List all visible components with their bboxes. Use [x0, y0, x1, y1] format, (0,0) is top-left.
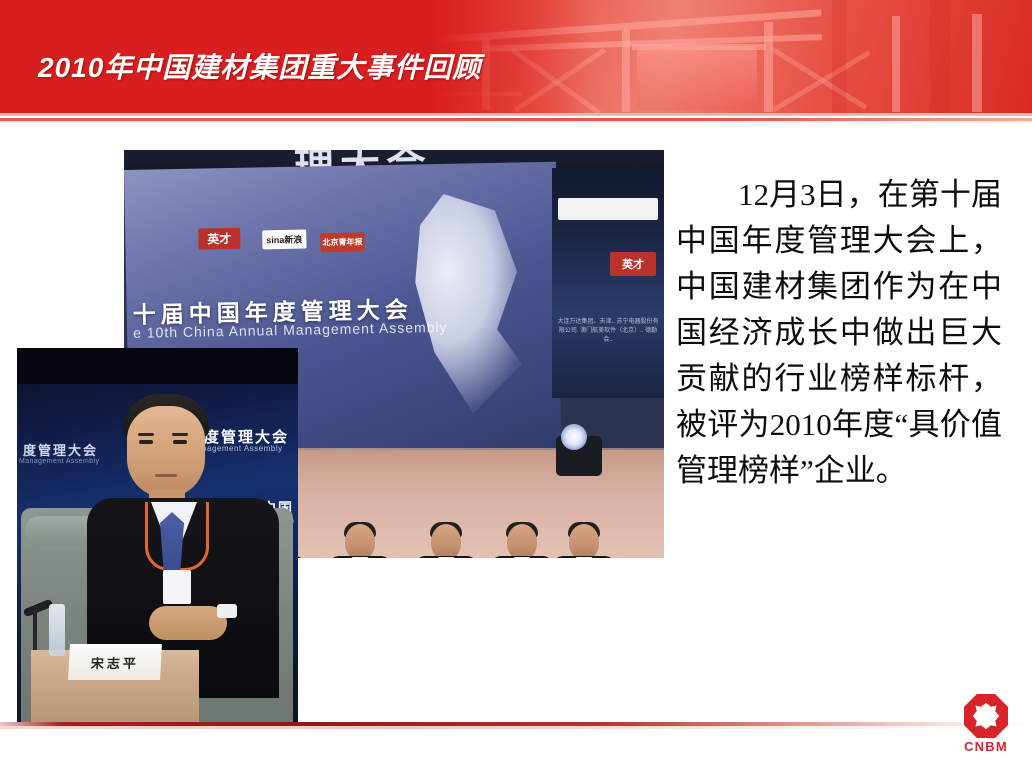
side-panel-logo: 英才: [610, 252, 656, 276]
sponsor-logo-beijing-youth-daily: 北京青年报: [320, 232, 364, 252]
nameplate: 宋志平: [68, 644, 162, 680]
water-bottle-shape: [49, 604, 65, 656]
seated-executive-photo: 年度管理大会 al Management Assembly 度管理大会 Mana…: [17, 348, 298, 722]
stage-light-icon: [556, 436, 602, 476]
body-paragraph: 12月3日，在第十届中国年度管理大会上，中国建材集团作为在中国经济成长中做出巨大…: [676, 172, 1002, 494]
sponsor-logo-yingcai: 英才: [198, 228, 240, 250]
stage-side-panel: 英才 大连万达集团、天津.. 苏宁电器股份有限公司. 澳门航美软件（北京）.. …: [552, 168, 664, 398]
sponsor-logo-sina: sina新浪: [262, 230, 306, 250]
portrait-backdrop-cn-left: 度管理大会: [23, 440, 98, 459]
slide-canvas: 2010年中国建材集团重大事件回顾 理大会 十届中国年度管理大会 e 10th …: [0, 0, 1032, 764]
cnbm-octagon-star-icon: [964, 694, 1008, 738]
portrait-backdrop-en-left: Management Assembly: [19, 458, 99, 465]
footer-rule-highlight: [0, 726, 1032, 729]
cnbm-logo-text: CNBM: [964, 739, 1008, 754]
page-title: 2010年中国建材集团重大事件回顾: [38, 46, 481, 86]
cnbm-logo: CNBM: [955, 694, 1017, 756]
side-panel-footnote: 大连万达集团、天津.. 苏宁电器股份有限公司. 澳门航美软件（北京）.. 德勤会…: [556, 318, 660, 345]
nameplate-text: 宋志平: [90, 653, 139, 672]
header-divider-4: [0, 121, 1032, 123]
slide-header-banner: 2010年中国建材集团重大事件回顾: [0, 0, 1032, 113]
